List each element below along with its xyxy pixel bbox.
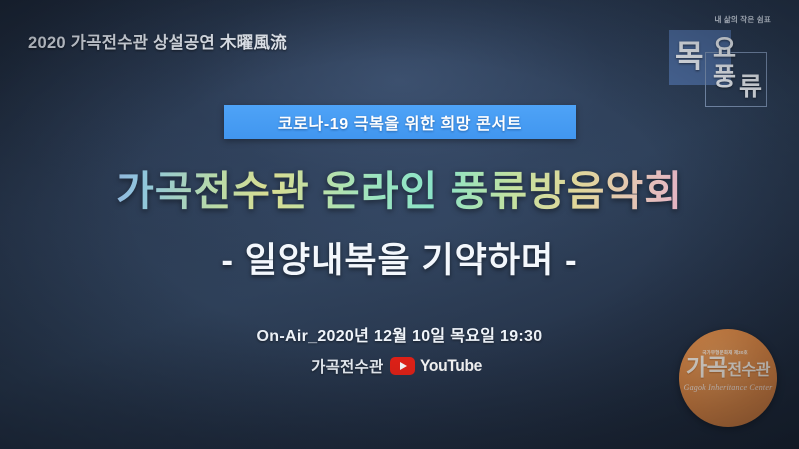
- seal-char-jeonsugwan: 전수관: [727, 362, 770, 379]
- mokyo-char-ryu: 류: [739, 74, 762, 99]
- sub-title: - 일양내복을 기약하며 -: [0, 232, 799, 283]
- onair-schedule: On-Air_2020년 12월 10일 목요일 19:30: [0, 322, 799, 346]
- main-title: 가곡전수관 온라인 풍류방음악회: [0, 157, 799, 217]
- channel-name: 가곡전수관: [311, 355, 383, 377]
- mokyo-pungnyu-logo: 내 삶의 작은 쉼표 목 요 풍 류: [661, 14, 775, 110]
- gagok-inheritance-center-seal: 국가무형문화재 제30호 가곡전수관 Gagok Inheritance Cen…: [679, 329, 777, 427]
- youtube-lockup[interactable]: YouTube: [390, 356, 487, 376]
- mokyo-logo-glyph-grid: 목 요 풍 류: [661, 30, 775, 110]
- seal-korean-name: 가곡전수관: [679, 356, 777, 379]
- seal-char-gok: 곡: [707, 354, 728, 380]
- play-triangle-icon: [400, 362, 407, 370]
- mokyo-char-pung: 풍: [713, 64, 736, 89]
- poster-canvas: 2020 가곡전수관 상설공연 木曜風流 내 삶의 작은 쉼표 목 요 풍 류 …: [0, 0, 799, 449]
- mokyo-char-yo: 요: [713, 36, 736, 61]
- youtube-wordmark: YouTube: [420, 356, 482, 376]
- badge-label: 코로나-19 극복을 위한 희망 콘서트: [278, 110, 522, 134]
- poster-header-line: 2020 가곡전수관 상설공연 木曜風流: [28, 29, 287, 53]
- seal-char-ga: 가: [686, 354, 707, 380]
- hope-concert-badge: 코로나-19 극복을 위한 희망 콘서트: [224, 105, 576, 139]
- youtube-play-icon: [390, 357, 415, 375]
- mokyo-char-mok: 목: [675, 42, 704, 73]
- mokyo-logo-tagline: 내 삶의 작은 쉼표: [714, 14, 771, 25]
- seal-english-name: Gagok Inheritance Center: [679, 383, 777, 392]
